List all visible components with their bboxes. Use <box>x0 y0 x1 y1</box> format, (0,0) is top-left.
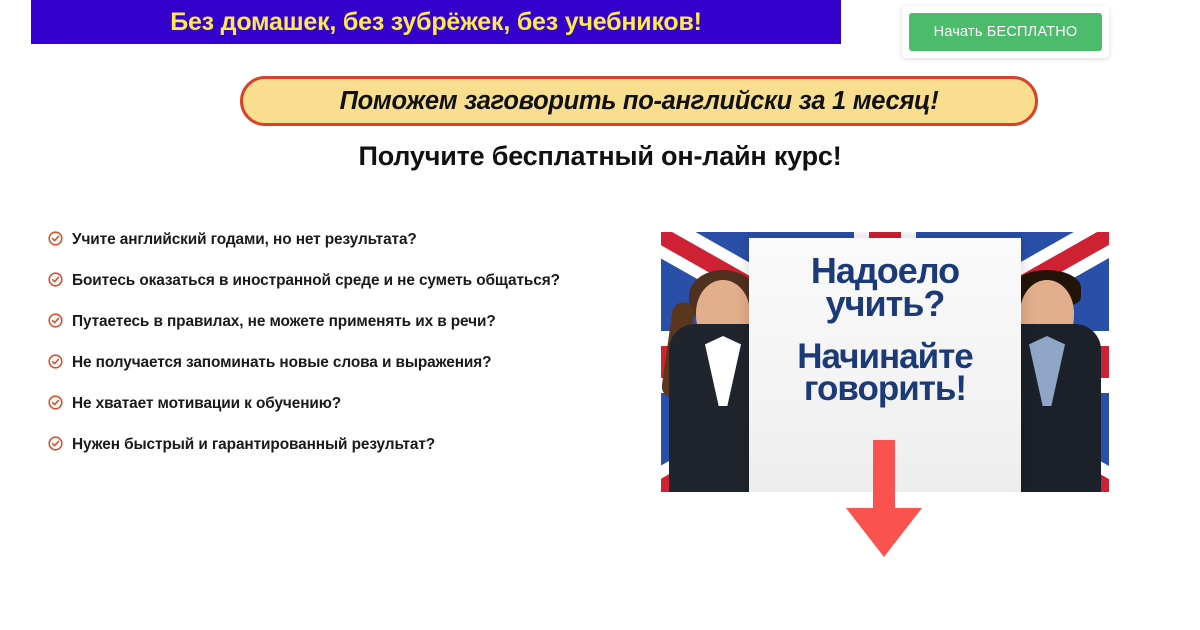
list-item-label: Не хватает мотивации к обучению? <box>72 392 341 417</box>
sign-line-1: Надоело <box>811 254 959 287</box>
top-promo-banner: Без домашек, без зубрёжек, без учебников… <box>31 0 841 44</box>
list-item: Путаетесь в правилах, не можете применят… <box>48 310 628 335</box>
list-item: Учите английский годами, но нет результа… <box>48 228 628 253</box>
list-item-label: Не получается запоминать новые слова и в… <box>72 351 491 376</box>
benefits-list: Учите английский годами, но нет результа… <box>48 228 628 474</box>
promise-banner: Поможем заговорить по-английски за 1 мес… <box>240 76 1038 126</box>
list-item: Не получается запоминать новые слова и в… <box>48 351 628 376</box>
list-item-label: Боитесь оказаться в иностранной среде и … <box>72 269 560 294</box>
start-free-button[interactable]: Начать БЕСПЛАТНО <box>909 13 1102 51</box>
check-circle-icon <box>48 272 63 287</box>
list-item: Не хватает мотивации к обучению? <box>48 392 628 417</box>
top-promo-banner-text: Без домашек, без зубрёжек, без учебников… <box>170 8 702 37</box>
check-circle-icon <box>48 231 63 246</box>
check-circle-icon <box>48 313 63 328</box>
list-item: Нужен быстрый и гарантированный результа… <box>48 433 628 458</box>
list-item-label: Путаетесь в правилах, не можете применят… <box>72 310 496 335</box>
sign-line-2: учить? <box>826 287 945 320</box>
check-circle-icon <box>48 354 63 369</box>
check-circle-icon <box>48 436 63 451</box>
cta-button-frame: Начать БЕСПЛАТНО <box>902 6 1109 58</box>
check-circle-icon <box>48 395 63 410</box>
list-item: Боитесь оказаться в иностранной среде и … <box>48 269 628 294</box>
list-item-label: Учите английский годами, но нет результа… <box>72 228 417 253</box>
sign-line-4: говорить! <box>804 373 966 406</box>
page-subtitle: Получите бесплатный он-лайн курс! <box>0 141 1200 172</box>
list-item-label: Нужен быстрый и гарантированный результа… <box>72 433 435 458</box>
promise-banner-text: Поможем заговорить по-английски за 1 мес… <box>340 87 939 116</box>
arrow-down-icon <box>846 440 922 564</box>
